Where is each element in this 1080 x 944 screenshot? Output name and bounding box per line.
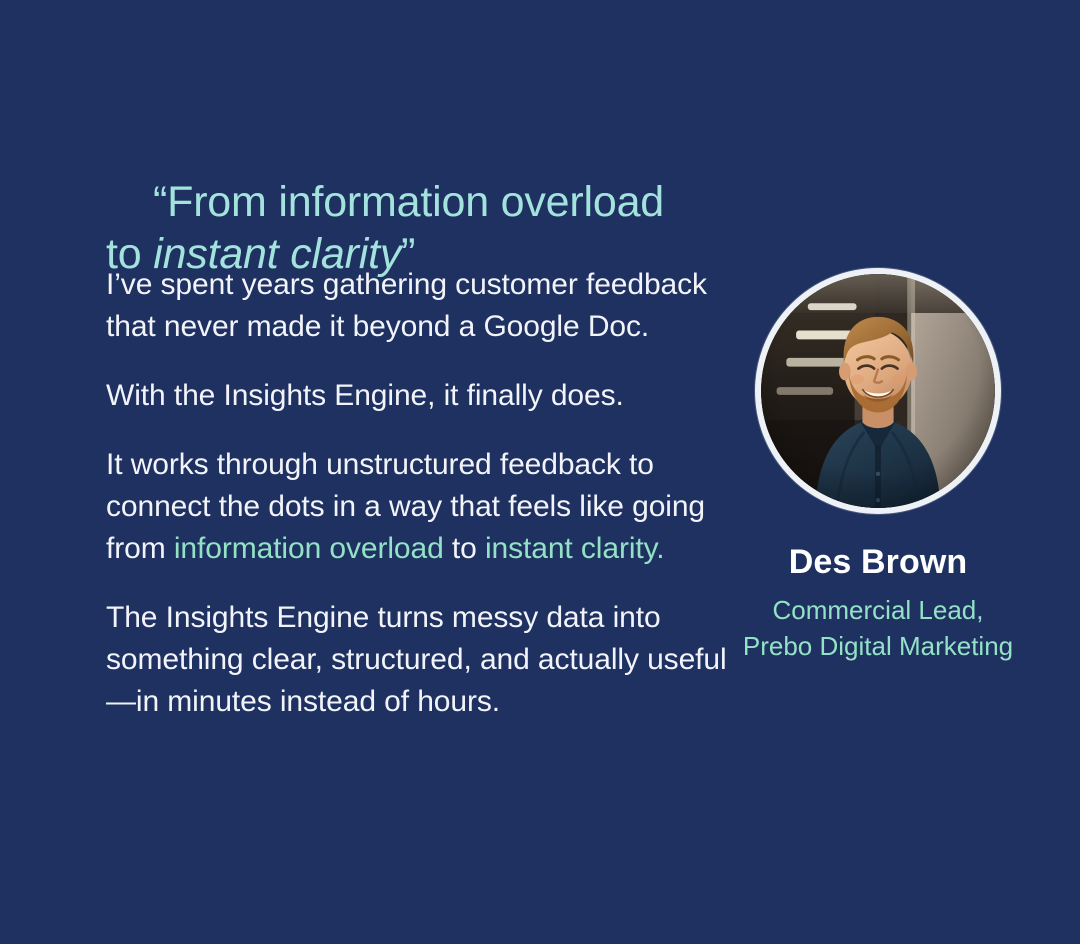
paragraph-segment: With the Insights Engine, it finally doe… [106,379,624,412]
testimonial-slide: “From information overloadto instant cla… [0,0,1080,944]
testimonial-body: I’ve spent years gathering customer feed… [106,264,746,723]
avatar [755,268,1001,514]
highlighted-phrase-instant-clarity: instant clarity. [485,532,665,565]
headline-open-quote: “ [153,178,167,226]
testimonial-paragraph-2: With the Insights Engine, it finally doe… [106,375,746,417]
paragraph-segment: I’ve spent years gathering customer feed… [106,268,707,343]
author-name: Des Brown [712,542,1044,582]
author-role: Commercial Lead, Prebo Digital Marketing [712,592,1044,664]
portrait-illustration [761,274,995,508]
testimonial-paragraph-1: I’ve spent years gathering customer feed… [106,264,746,348]
avatar-photo [761,274,995,508]
highlighted-phrase-information-overload: information overload [174,532,444,565]
author-block: Des Brown Commercial Lead, Prebo Digital… [712,268,1044,664]
paragraph-segment: to [444,532,485,565]
headline-line-1: From information overload [167,178,664,226]
paragraph-segment: The Insights Engine turns messy data int… [106,601,727,718]
testimonial-paragraph-4: The Insights Engine turns messy data int… [106,597,746,723]
testimonial-paragraph-3: It works through unstructured feedback t… [106,444,746,570]
